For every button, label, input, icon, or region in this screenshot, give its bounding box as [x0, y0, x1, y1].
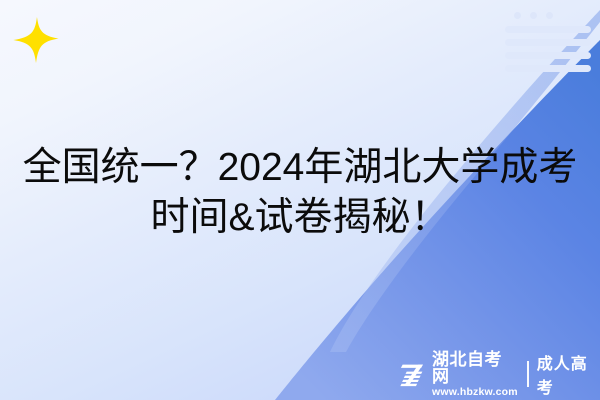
sparkle-star-icon [12, 16, 60, 64]
logo-site-name: 湖北自考网 [432, 351, 518, 385]
logo-divider [527, 361, 529, 387]
logo-text-block: 湖北自考网 www.hbzkw.com [432, 351, 518, 398]
promo-banner: 全国统一？2024年湖北大学成考 时间&试卷揭秘！ 湖北自考网 www.hbzk… [0, 0, 600, 400]
motif-dot [546, 12, 553, 19]
motif-bar [505, 65, 591, 72]
motif-dot [530, 12, 537, 19]
site-logo-lockup[interactable]: 湖北自考网 www.hbzkw.com 成人高考 [398, 357, 600, 391]
motif-dot-row [514, 12, 591, 19]
headline-line-2: 时间&试卷揭秘！ [0, 193, 600, 243]
banner-headline: 全国统一？2024年湖北大学成考 时间&试卷揭秘！ [0, 143, 600, 243]
motif-dot [514, 12, 521, 19]
document-lines-motif [505, 12, 591, 67]
motif-bar [505, 39, 591, 46]
logo-site-url: www.hbzkw.com [432, 387, 518, 398]
motif-bar [505, 26, 591, 33]
headline-line-1: 全国统一？2024年湖北大学成考 [0, 143, 600, 193]
motif-bar [505, 52, 591, 59]
hbzkw-z-mark-icon [398, 360, 427, 389]
logo-category-badge: 成人高考 [537, 350, 600, 398]
